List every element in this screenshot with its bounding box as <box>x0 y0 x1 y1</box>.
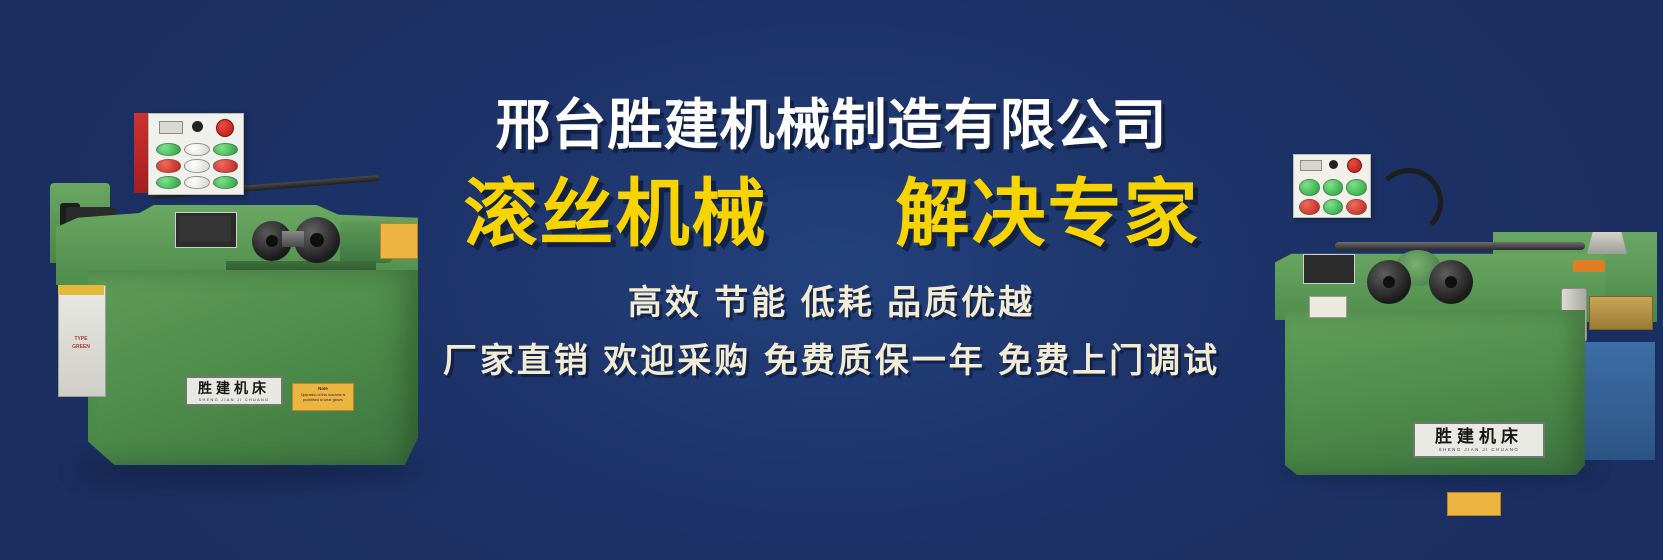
machine-left-warning-title: Note <box>295 386 351 393</box>
machine-right-warning-label <box>1447 492 1501 516</box>
machine-right-nameplate-cn: 胜建机床 <box>1435 428 1523 445</box>
machine-left-nameplate-pinyin: SHENG JIAN JI CHUANG <box>199 397 270 402</box>
tagline: 高效 节能 低耗 品质优越 <box>0 281 1663 327</box>
machine-left-warning-label: Note Operation of this machine is prohib… <box>292 383 354 411</box>
machine-right-nameplate: 胜建机床 SHENG JIAN JI CHUANG <box>1413 422 1545 458</box>
headline-part-1: 滚丝机械 <box>464 177 768 251</box>
headline-part-2: 解决专家 <box>896 177 1200 251</box>
headline: 滚丝机械 解决专家 <box>0 177 1663 251</box>
machine-left-warning-text: Operation of this machine is prohibited … <box>301 393 346 402</box>
promo-banner: TYPE GREEN 胜建机床 SHENG JIAN JI CHUANG Not… <box>0 0 1663 560</box>
company-name: 邢台胜建机械制造有限公司 <box>0 98 1663 153</box>
machine-right-nameplate-pinyin: SHENG JIAN JI CHUANG <box>1439 447 1520 452</box>
banner-text-block: 邢台胜建机械制造有限公司 滚丝机械 解决专家 高效 节能 低耗 品质优越 厂家直… <box>0 0 1663 385</box>
promise-line: 厂家直销 欢迎采购 免费质保一年 免费上门调试 <box>0 339 1663 385</box>
